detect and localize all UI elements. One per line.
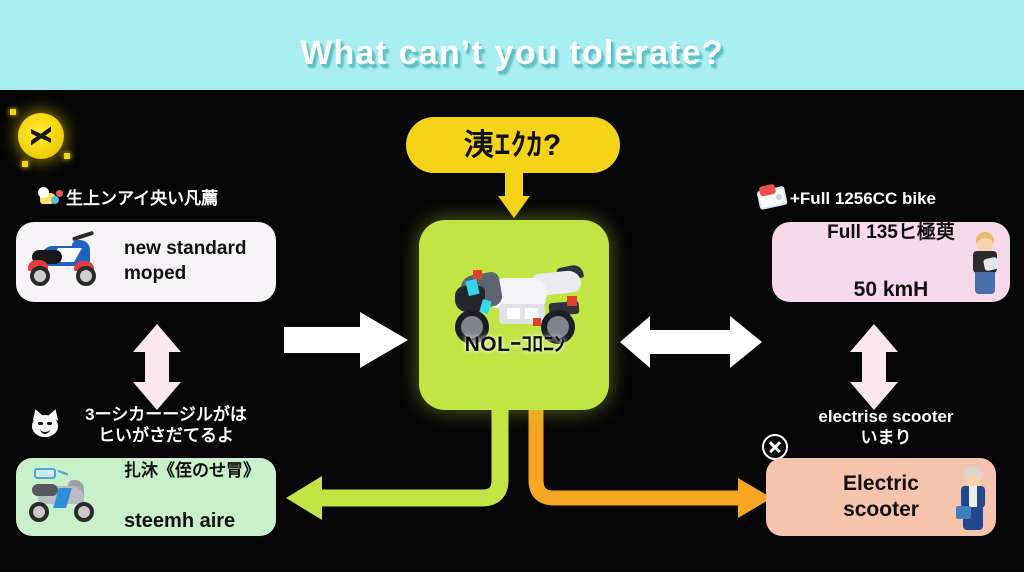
node-center-motorcycle[interactable]: NOLｰｺﾛﾆﾝ [419,220,609,410]
node-electric-label: Electric scooter [778,471,984,524]
connector-pill-to-center [498,172,530,218]
question-pill[interactable]: 洟ｴｸｶ? [406,117,620,173]
cat-face-icon [28,410,62,440]
center-node-caption: NOLｰｺﾛﾆﾝ [435,328,595,358]
connector-center-to-steemh [286,408,500,520]
node-steemh-jp-label: 扎沐《侄のせ冐》 [124,460,260,482]
node-steemh-en-label: steemh aire [124,508,260,534]
electric-scooter-edge-label: electrise scooter いまり [782,406,990,449]
connector-center-to-electric [536,408,772,518]
person-standing-icon [968,232,1002,294]
electric-scooter-grey-icon [24,466,110,526]
connector-moped-to-steemh [133,324,181,410]
node-full-line2: 50 kmH [784,276,998,303]
question-pill-label: 洟ｴｸｶ? [464,126,562,165]
connector-full-to-electric [850,324,898,410]
node-moped-label: new standard moped [124,237,246,286]
page-title: What can’t you tolerate? [0,34,1024,73]
connector-center-to-full [620,316,762,368]
node-new-standard-moped[interactable]: new standard moped [16,222,276,302]
person-technician-icon [956,466,990,530]
diagram-body: 洟ｴｸｶ? 生上ンアイ央い凡薦 new standard moped [0,90,1024,572]
diagram-canvas: What can’t you tolerate? [0,0,1024,572]
blue-moped-icon [24,230,110,292]
sport-motorcycle-icon: NOLｰｺﾛﾆﾝ [437,256,593,348]
moped-edge-label: 生上ンアイ央い凡薦 [66,188,218,209]
connector-moped-to-center [284,312,408,368]
node-electric-scooter[interactable]: Electric scooter [766,458,996,536]
node-full-135[interactable]: Full 135ヒ極萸 50 kmH [772,222,1010,302]
node-steemh-aire[interactable]: 扎沐《侄のせ冐》 steemh aire [16,458,276,536]
flower-scooter-icon [38,186,64,208]
node-full-line1: Full 135ヒ極萸 [784,221,998,246]
sparkle-badge-icon [18,113,64,159]
